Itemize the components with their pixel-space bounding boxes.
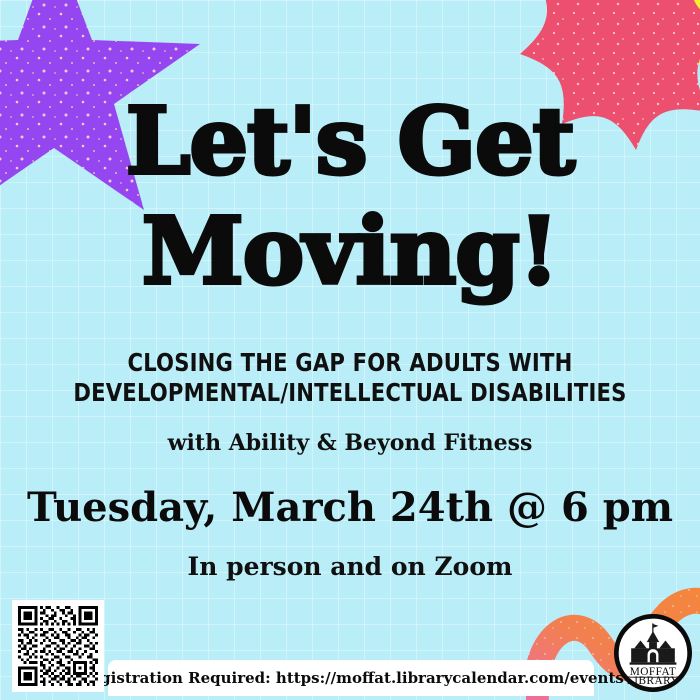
poster-location: In person and on Zoom (0, 552, 700, 581)
event-poster: Let's Get Moving! CLOSING THE GAP FOR AD… (0, 0, 700, 700)
moffat-library-logo-icon[interactable]: MOFFAT LIBRARY (614, 614, 692, 692)
poster-title-line-1: Let's Get (0, 96, 700, 186)
qr-code-icon[interactable] (12, 600, 104, 692)
registration-banner: Registration Required: https://moffat.li… (108, 660, 594, 696)
poster-title-line-2: Moving! (0, 206, 700, 296)
poster-presenter: with Ability & Beyond Fitness (0, 430, 700, 456)
poster-datetime: Tuesday, March 24th @ 6 pm (0, 484, 700, 531)
qr-code-matrix (18, 606, 98, 686)
poster-content: Let's Get Moving! CLOSING THE GAP FOR AD… (0, 0, 700, 700)
registration-text[interactable]: Registration Required: https://moffat.li… (78, 669, 624, 687)
poster-subtitle: CLOSING THE GAP FOR ADULTS WITH DEVELOPM… (44, 348, 657, 407)
